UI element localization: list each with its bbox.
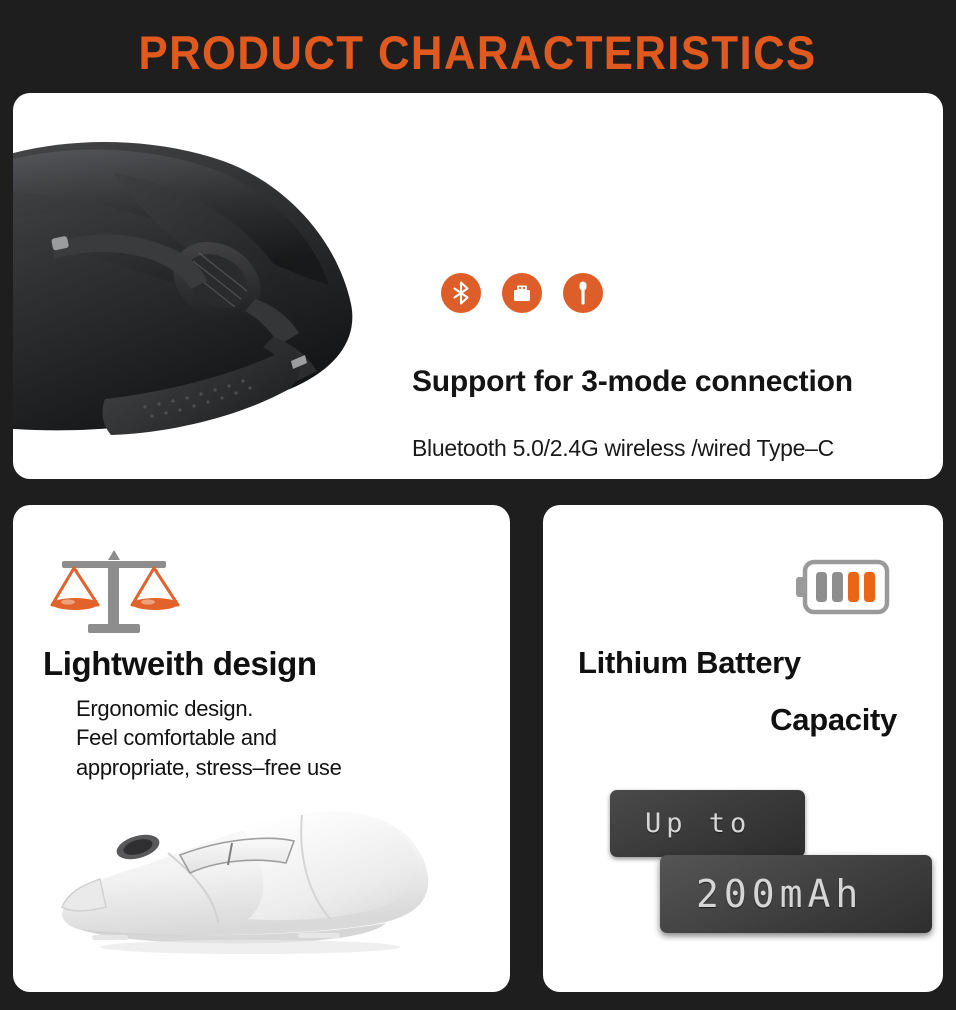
battery-level-icon — [795, 558, 890, 616]
white-mouse-photo — [40, 795, 470, 975]
connection-subtext: Bluetooth 5.0/2.4G wireless /wired Type–… — [412, 435, 834, 462]
page-title-bar: PRODUCT CHARACTERISTICS — [0, 28, 956, 77]
usb-receiver-icon — [502, 273, 542, 313]
page-title: PRODUCT CHARACTERISTICS — [139, 28, 817, 77]
bluetooth-icon — [441, 273, 481, 313]
black-mouse-photo — [13, 99, 385, 459]
product-characteristics-page: PRODUCT CHARACTERISTICS — [0, 0, 956, 1010]
battery-heading-line-1: Lithium Battery — [578, 645, 801, 681]
plate-up-to: Up to — [610, 790, 805, 857]
lightweight-heading: Lightweith design — [43, 645, 317, 683]
lightweight-body-line-1: Ergonomic design. — [76, 694, 342, 723]
connection-heading: Support for 3-mode connection — [412, 365, 853, 399]
lightweight-body: Ergonomic design. Feel comfortable and a… — [76, 694, 342, 782]
plate-capacity: 200mAh — [660, 855, 932, 933]
connection-icon-row — [441, 273, 603, 313]
card-connection: Support for 3-mode connection Bluetooth … — [13, 93, 943, 479]
balance-scale-icon — [44, 548, 184, 640]
lightweight-body-line-2: Feel comfortable and — [76, 723, 342, 752]
usb-c-plug-icon — [563, 273, 603, 313]
battery-heading-line-2: Capacity — [543, 702, 933, 738]
lightweight-body-line-3: appropriate, stress–free use — [76, 753, 342, 782]
